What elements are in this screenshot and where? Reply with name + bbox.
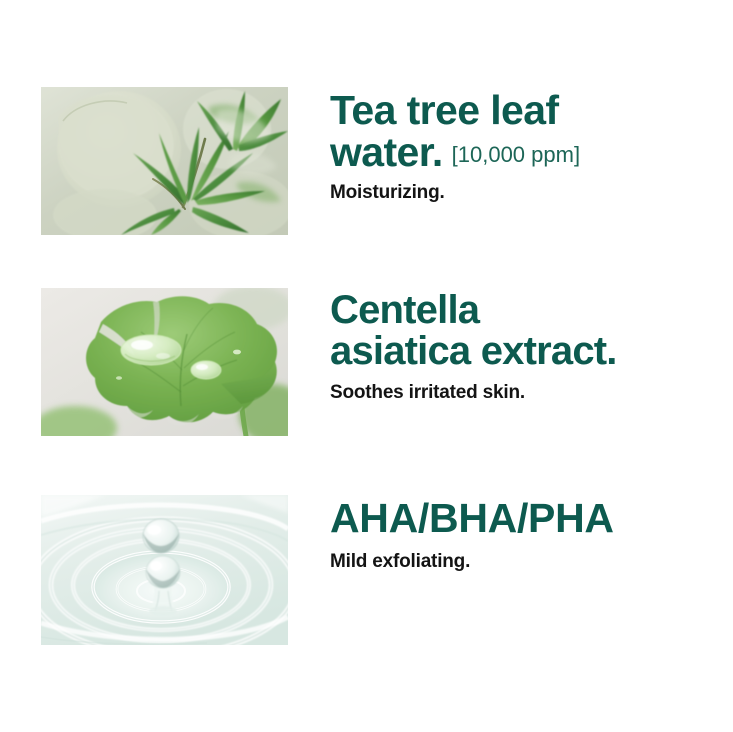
headline-line-1: Tea tree leaf xyxy=(330,89,733,131)
centella-leaf-photo xyxy=(41,288,288,436)
headline-line-2: water. xyxy=(330,129,443,175)
subtitle-centella-asiatica-extract: Soothes irritated skin. xyxy=(330,372,733,404)
headline-line-2: asiatica extract. xyxy=(330,331,733,372)
text-block-centella-asiatica-extract: Centellaasiatica extract. Soothes irrita… xyxy=(330,288,733,404)
tea-tree-leaf-illustration xyxy=(41,87,288,235)
text-block-aha-bha-pha: AHA/BHA/PHA Mild exfoliating. xyxy=(330,495,733,573)
headline-centella-asiatica-extract: Centellaasiatica extract. xyxy=(330,290,733,372)
subtitle-aha-bha-pha: Mild exfoliating. xyxy=(330,539,733,573)
headline-tea-tree-leaf-water: Tea tree leafwater.[10,000 ppm] xyxy=(330,89,733,173)
tea-tree-leaf-photo xyxy=(41,87,288,235)
ingredient-row-centella-asiatica-extract: Centellaasiatica extract. Soothes irrita… xyxy=(0,288,733,436)
subtitle-tea-tree-leaf-water: Moisturizing. xyxy=(330,173,733,204)
text-block-tea-tree-leaf-water: Tea tree leafwater.[10,000 ppm] Moisturi… xyxy=(330,87,733,204)
ingredient-row-aha-bha-pha: AHA/BHA/PHA Mild exfoliating. xyxy=(0,495,733,645)
ingredient-row-tea-tree-leaf-water: Tea tree leafwater.[10,000 ppm] Moisturi… xyxy=(0,87,733,235)
centella-leaf-illustration xyxy=(41,288,288,436)
concentration-annotation: [10,000 ppm] xyxy=(452,142,580,167)
headline-line-2-with-annotation: water.[10,000 ppm] xyxy=(330,131,733,173)
headline-line-1: Centella xyxy=(330,290,733,331)
headline-line-1: AHA/BHA/PHA xyxy=(330,497,733,539)
water-droplet-ripple-illustration xyxy=(41,495,288,645)
water-droplet-ripple-photo xyxy=(41,495,288,645)
headline-aha-bha-pha: AHA/BHA/PHA xyxy=(330,497,733,539)
ingredient-benefits-infographic: Tea tree leafwater.[10,000 ppm] Moisturi… xyxy=(0,0,733,732)
